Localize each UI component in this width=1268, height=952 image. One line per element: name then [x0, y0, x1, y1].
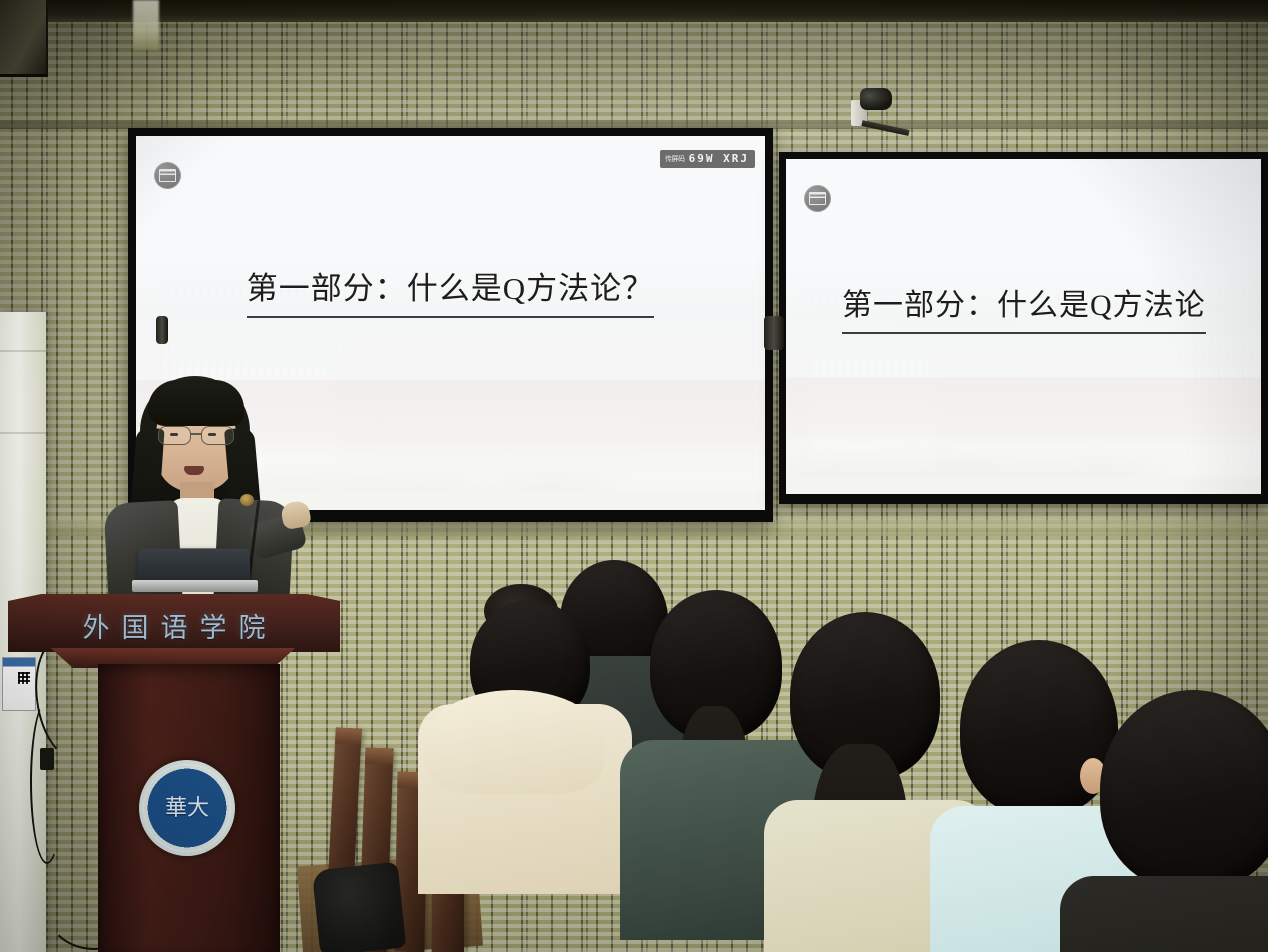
presenter-laptop-screen — [137, 548, 250, 584]
right-display-surface: 第一部分：什么是Q方法论 — [786, 159, 1261, 494]
slide-title-left: 第一部分：什么是Q方法论？ — [247, 263, 654, 318]
microphone-head — [240, 494, 254, 506]
menu-list-glyph — [809, 192, 826, 205]
ceiling-vent — [0, 0, 48, 77]
glasses-lens — [158, 426, 191, 445]
presenter-hand — [280, 500, 312, 530]
audience-coat — [1060, 876, 1268, 952]
presenter-laptop-base — [132, 580, 258, 592]
glasses-icon — [157, 426, 235, 443]
audience-head — [1100, 690, 1268, 890]
presenter-fringe — [148, 380, 244, 426]
podium-label: 外国语学院 — [8, 606, 340, 645]
display-mount-bracket-left — [156, 316, 168, 344]
podium-top: 外国语学院 — [8, 594, 340, 652]
lecture-hall-scene: 第一部分：什么是Q方法论？ 传屏码 69W XRJ 第一部分：什么是Q方法论 — [0, 0, 1268, 952]
slide-title-area: 第一部分：什么是Q方法论？ — [136, 263, 765, 318]
menu-list-icon[interactable] — [154, 162, 181, 189]
presenter-mouth — [184, 466, 204, 475]
cabinet-label — [2, 657, 36, 711]
right-display[interactable]: 第一部分：什么是Q方法论 — [779, 152, 1268, 504]
wall-patch — [133, 0, 159, 50]
slide-title-area: 第一部分：什么是Q方法论 — [786, 280, 1261, 334]
cable-clip — [40, 748, 54, 770]
university-emblem: 華大 — [139, 760, 235, 856]
qr-code-icon — [18, 672, 30, 684]
cast-code-label: 传屏码 — [665, 154, 685, 164]
menu-list-glyph — [159, 169, 176, 182]
chair-top — [365, 748, 394, 765]
security-camera-icon — [860, 88, 892, 110]
hanging-cable — [30, 700, 64, 864]
cast-code-badge: 传屏码 69W XRJ — [660, 150, 755, 168]
emblem-ring — [143, 764, 231, 852]
handbag — [312, 862, 407, 952]
chair-top — [335, 727, 362, 744]
display-mount-bracket — [764, 316, 784, 350]
glasses-lens — [201, 426, 234, 445]
slide-title-right: 第一部分：什么是Q方法论 — [842, 280, 1206, 334]
cabinet-seam — [0, 350, 46, 352]
menu-list-icon[interactable] — [804, 185, 831, 212]
cabinet-seam — [0, 432, 46, 434]
cast-code-value: 69W XRJ — [689, 152, 749, 165]
audience-hood — [424, 690, 604, 794]
ceiling-band — [0, 0, 1268, 22]
slide-bottom-bar — [786, 477, 1261, 494]
